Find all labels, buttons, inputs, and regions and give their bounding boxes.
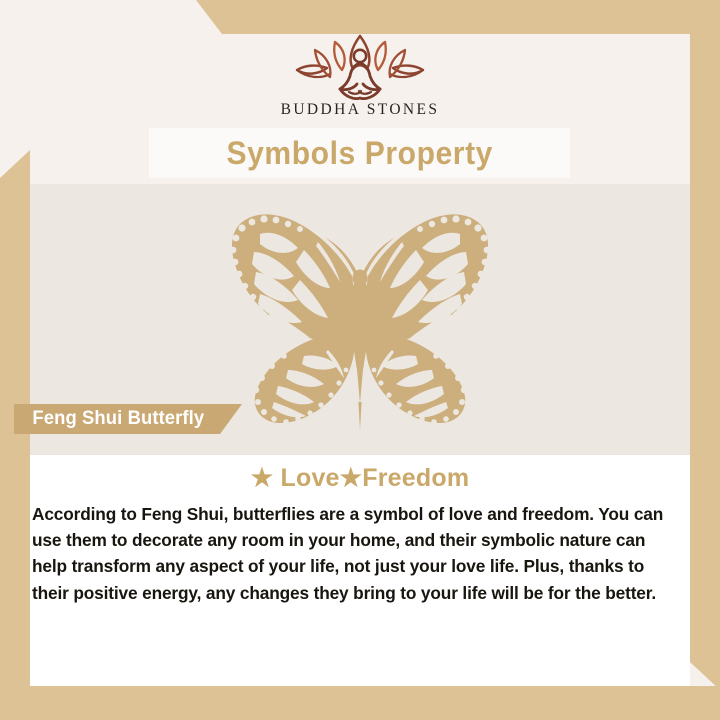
decor-band-left: [0, 150, 30, 720]
brand-name: BUDDHA STONES: [281, 101, 440, 119]
page-title: Symbols Property: [226, 135, 492, 172]
decor-band-top: [0, 0, 720, 34]
butterfly-icon: [200, 184, 520, 431]
category-label: Feng Shui Butterfly: [14, 404, 242, 434]
decor-band-right: [690, 0, 720, 690]
description-paragraph: According to Feng Shui, butterflies are …: [30, 501, 690, 606]
lotus-meditation-icon: [285, 34, 435, 100]
title-banner: Symbols Property: [149, 128, 570, 178]
promo-infographic-card: BUDDHA STONES Symbols Property: [0, 0, 720, 720]
subtitle: ★ Love★Freedom: [30, 463, 690, 493]
description-section: ★ Love★Freedom According to Feng Shui, b…: [30, 455, 690, 686]
category-label-text: Feng Shui Butterfly: [17, 408, 204, 430]
brand-header: BUDDHA STONES: [30, 34, 690, 128]
